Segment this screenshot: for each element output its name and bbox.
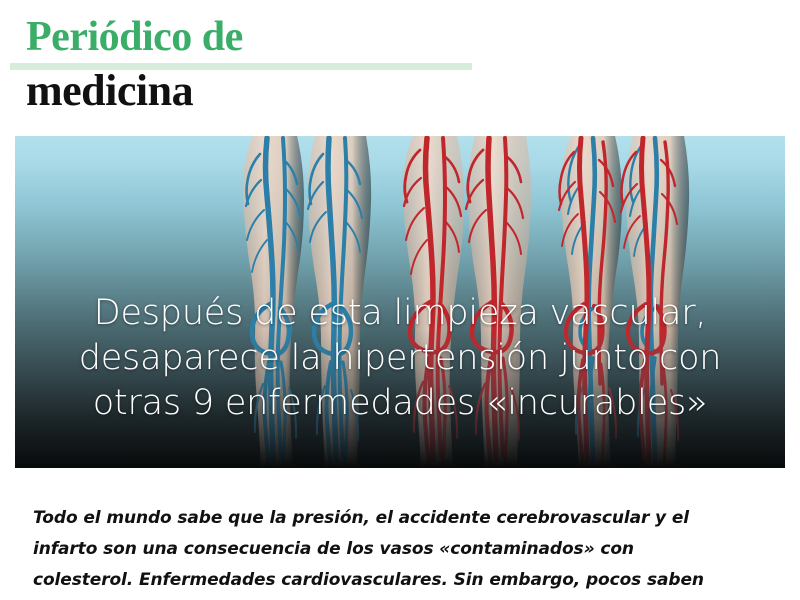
masthead-title-line-1: Periódico de (26, 14, 800, 60)
article-line-2: infarto son una consecuencia de los vaso… (33, 534, 775, 565)
hero-banner: Después de esta limpieza vascular, desap… (15, 136, 785, 468)
article-intro-paragraph: Todo el mundo sabe que la presión, el ac… (33, 503, 775, 596)
hero-headline-line-1: Después de esta limpieza vascular, (33, 291, 767, 336)
site-masthead: Periódico de medicina (0, 0, 800, 115)
article-line-3: colesterol. Enfermedades cardiovasculare… (33, 565, 775, 596)
hero-headline: Después de esta limpieza vascular, desap… (15, 291, 785, 426)
article-line-1: Todo el mundo sabe que la presión, el ac… (33, 503, 775, 534)
hero-headline-line-3: otras 9 enfermedades «incurables» (33, 381, 767, 426)
masthead-title-line-2: medicina (26, 67, 800, 115)
masthead-divider-rule (10, 63, 472, 70)
hero-headline-line-2: desaparece la hipertensión junto con (33, 336, 767, 381)
